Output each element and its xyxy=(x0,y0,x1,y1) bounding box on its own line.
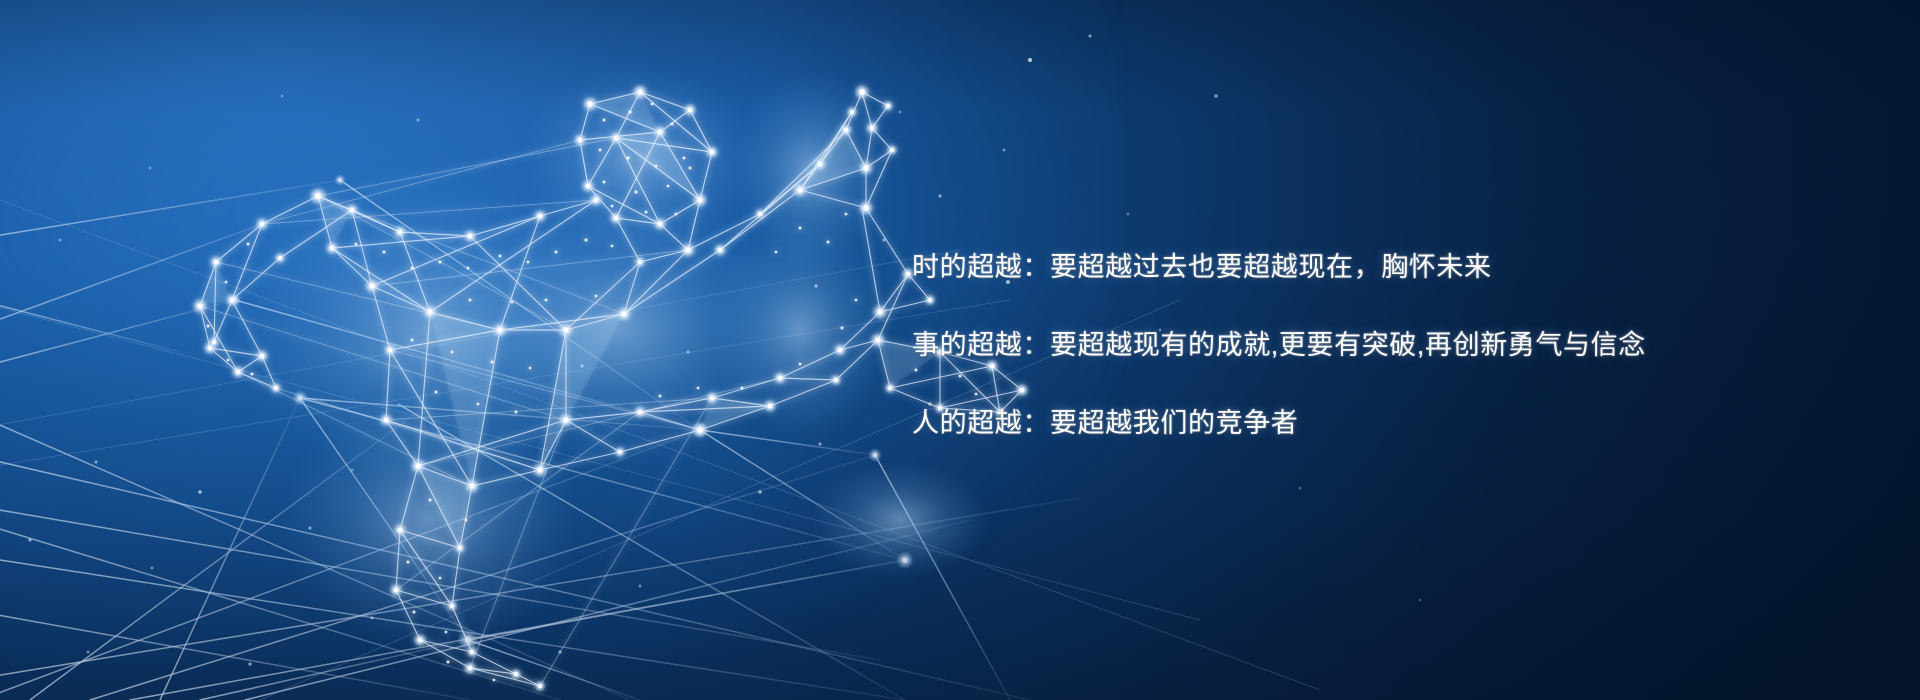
slogan-text-block: 时的超越：要超越过去也要超越现在，胸怀未来 事的超越：要超越现有的成就,更要有突… xyxy=(912,228,1812,462)
slogan-line-1: 时的超越：要超越过去也要超越现在，胸怀未来 xyxy=(912,228,1812,306)
slogan-line-2: 事的超越：要超越现有的成就,更要有突破,再创新勇气与信念 xyxy=(912,306,1812,384)
slogan-line-3: 人的超越：要超越我们的竞争者 xyxy=(912,384,1812,462)
hero-banner: 时的超越：要超越过去也要超越现在，胸怀未来 事的超越：要超越现有的成就,更要有突… xyxy=(0,0,1920,700)
